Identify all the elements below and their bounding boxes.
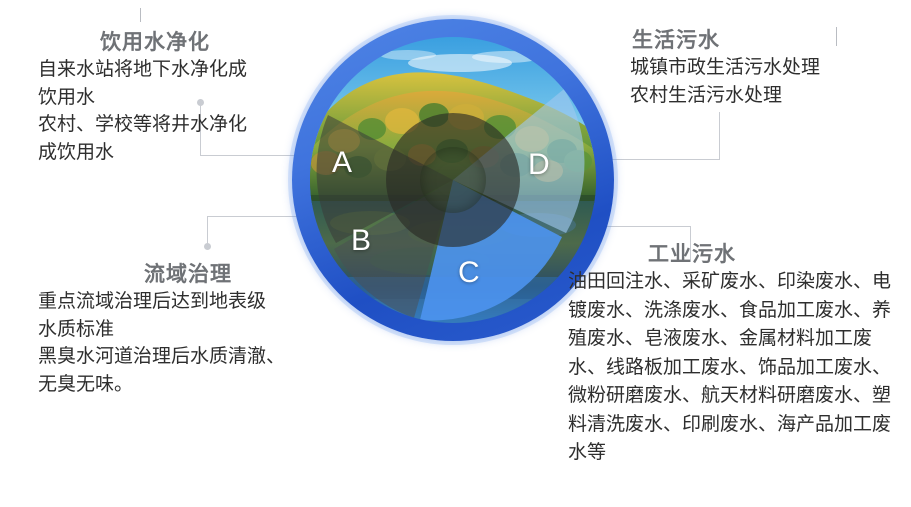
connector-b-dot: [204, 243, 211, 250]
text-line: 重点流域治理后达到地表级: [38, 288, 285, 316]
text-line: 农村生活污水处理: [630, 82, 820, 110]
text-line: 黑臭水河道治理后水质清澈、: [38, 343, 285, 371]
block-drinking-water-title: 饮用水净化: [100, 26, 247, 56]
segment-label-c: C: [458, 258, 480, 288]
block-industrial-wastewater-body: 油田回注水、采矿废水、印染废水、电镀废水、洗涤废水、食品加工废水、养殖废水、皂液…: [568, 268, 906, 468]
block-watershed: 流域治理 重点流域治理后达到地表级 水质标准 黑臭水河道治理后水质清澈、 无臭无…: [38, 258, 285, 398]
block-domestic-sewage: 生活污水 城镇市政生活污水处理 农村生活污水处理: [630, 24, 820, 109]
text-paragraph: 油田回注水、采矿废水、印染废水、电镀废水、洗涤废水、食品加工废水、养殖废水、皂液…: [568, 268, 906, 468]
block-drinking-water: 饮用水净化 自来水站将地下水净化成 饮用水 农村、学校等将井水净化 成饮用水: [38, 26, 247, 166]
connector-b-vertical: [207, 216, 208, 246]
block-watershed-title: 流域治理: [144, 258, 285, 288]
segment-label-b: B: [351, 226, 371, 256]
connector-d-vertical: [719, 112, 720, 160]
block-domestic-sewage-title: 生活污水: [632, 24, 820, 54]
text-line: 农村、学校等将井水净化: [38, 111, 247, 139]
tick-mark-left: [140, 8, 141, 22]
center-hub: [386, 113, 520, 247]
block-domestic-sewage-body: 城镇市政生活污水处理 农村生活污水处理: [630, 54, 820, 109]
text-line: 城镇市政生活污水处理: [630, 54, 820, 82]
text-line: 水质标准: [38, 316, 285, 344]
segment-label-a: A: [332, 148, 352, 178]
diagram-canvas: A B C D 饮用水净化 自来水站将地下水净化成 饮用水 农村、学校等将井水净…: [0, 0, 911, 507]
block-industrial-wastewater: 工业污水 油田回注水、采矿废水、印染废水、电镀废水、洗涤废水、食品加工废水、养殖…: [568, 238, 906, 468]
text-line: 成饮用水: [38, 139, 247, 167]
text-line: 无臭无味。: [38, 371, 285, 399]
tick-mark-right: [836, 27, 837, 46]
block-industrial-wastewater-title: 工业污水: [648, 238, 906, 268]
block-drinking-water-body: 自来水站将地下水净化成 饮用水 农村、学校等将井水净化 成饮用水: [38, 56, 247, 166]
segment-label-d: D: [528, 150, 550, 180]
text-line: 自来水站将地下水净化成: [38, 56, 247, 84]
block-watershed-body: 重点流域治理后达到地表级 水质标准 黑臭水河道治理后水质清澈、 无臭无味。: [38, 288, 285, 398]
text-line: 饮用水: [38, 84, 247, 112]
